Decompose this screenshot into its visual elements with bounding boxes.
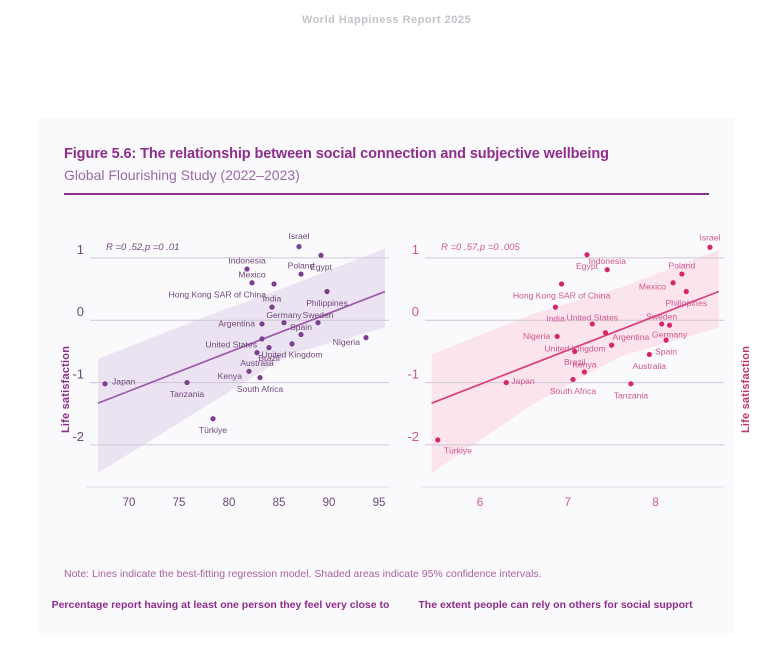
point-label: Argentina: [612, 332, 649, 342]
x-axis-caption-left: Percentage report having at least one pe…: [48, 598, 393, 613]
x-tick-label: 90: [323, 497, 336, 509]
correlation-annotation-1: R =0 .57,p =0 .005: [441, 242, 520, 253]
y-tick-label: 0: [77, 304, 84, 319]
point-label: Mexico: [238, 269, 265, 279]
point-label: Indonesia: [589, 256, 626, 266]
data-point: [670, 280, 675, 285]
data-point: [298, 332, 303, 337]
point-label: United States: [205, 339, 257, 349]
data-point: [281, 320, 286, 325]
y-tick-label: 1: [412, 242, 419, 257]
x-tick-label: 80: [223, 497, 236, 509]
point-label: India: [263, 294, 282, 304]
point-label: Nigeria: [523, 331, 550, 341]
data-point: [628, 381, 633, 386]
figure-title: Figure 5.6: The relationship between soc…: [64, 146, 704, 162]
data-point: [707, 245, 712, 250]
y-tick-label: -1: [407, 367, 419, 382]
point-label: Hong Kong SAR of China: [169, 290, 267, 300]
data-point: [435, 437, 440, 442]
point-label: Israel: [288, 231, 309, 241]
point-label: Australia: [240, 358, 274, 368]
data-point: [553, 305, 558, 310]
data-point: [269, 305, 274, 310]
point-label: Spain: [290, 322, 312, 332]
x-tick-label: 70: [123, 497, 136, 509]
point-label: Nigeria: [333, 337, 360, 347]
y-tick-label: -1: [72, 367, 84, 382]
x-tick-label: 6: [477, 497, 483, 509]
point-label: Sweden: [646, 311, 677, 321]
data-point: [315, 320, 320, 325]
point-label: Japan: [112, 376, 136, 386]
data-point: [298, 271, 303, 276]
scatter-plot-left: 10-1-2707580859095R =0 .52,p =0 .01Israe…: [48, 218, 393, 558]
data-point: [679, 271, 684, 276]
point-label: Sweden: [302, 310, 333, 320]
point-label: South Africa: [550, 386, 597, 396]
point-label: Türkiye: [199, 425, 227, 435]
data-point: [254, 350, 259, 355]
figure-note: Note: Lines indicate the best-fitting re…: [64, 568, 714, 580]
figure-card: Figure 5.6: The relationship between soc…: [38, 118, 735, 633]
data-point: [289, 341, 294, 346]
data-point: [667, 323, 672, 328]
point-label: Kenya: [218, 371, 243, 381]
point-label: Germany: [652, 330, 688, 340]
scatter-plot-right: 10-1-2678R =0 .57,p =0 .005IsraelEgyptIn…: [383, 218, 728, 558]
x-tick-label: 8: [652, 497, 658, 509]
data-point: [266, 345, 271, 350]
x-axis-caption-right: The extent people can rely on others for…: [383, 598, 728, 613]
data-point: [559, 281, 564, 286]
point-label: Tanzania: [614, 390, 649, 400]
point-label: Israel: [699, 233, 720, 243]
point-label: Hong Kong SAR of China: [513, 291, 611, 301]
chart-panel-left: Life satisfaction 10-1-2707580859095R =0…: [48, 218, 393, 558]
y-tick-label: -2: [407, 429, 419, 444]
data-point: [259, 336, 264, 341]
data-point: [249, 280, 254, 285]
y-axis-label-right: Life satisfaction: [740, 346, 752, 433]
data-point: [684, 289, 689, 294]
point-label: Poland: [668, 261, 695, 271]
data-point: [318, 253, 323, 258]
point-label: Mexico: [639, 281, 666, 291]
y-tick-label: 0: [412, 304, 419, 319]
point-label: India: [546, 314, 565, 324]
y-tick-label: 1: [77, 242, 84, 257]
x-tick-label: 75: [173, 497, 186, 509]
point-label: South Africa: [237, 384, 284, 394]
data-point: [659, 321, 664, 326]
data-point: [647, 352, 652, 357]
page-header: World Happiness Report 2025: [0, 14, 773, 26]
data-point: [246, 369, 251, 374]
point-label: Poland: [288, 261, 315, 271]
point-label: Philippines: [665, 298, 707, 308]
data-point: [184, 380, 189, 385]
data-point: [603, 330, 608, 335]
data-point: [609, 343, 614, 348]
data-point: [572, 349, 577, 354]
point-label: Kenya: [572, 359, 597, 369]
point-label: Philippines: [306, 298, 348, 308]
point-label: Australia: [633, 361, 667, 371]
data-point: [570, 377, 575, 382]
data-point: [663, 338, 668, 343]
data-point: [259, 321, 264, 326]
data-point: [271, 281, 276, 286]
data-point: [504, 380, 509, 385]
x-tick-label: 7: [565, 497, 571, 509]
data-point: [582, 369, 587, 374]
point-label: Indonesia: [228, 256, 265, 266]
data-point: [102, 381, 107, 386]
data-point: [210, 416, 215, 421]
point-label: Germany: [266, 310, 302, 320]
data-point: [363, 335, 368, 340]
data-point: [605, 267, 610, 272]
y-tick-label: -2: [72, 429, 84, 444]
point-label: Tanzania: [170, 389, 205, 399]
x-tick-label: 85: [273, 497, 286, 509]
data-point: [296, 244, 301, 249]
point-label: Japan: [511, 376, 535, 386]
point-label: United States: [567, 312, 619, 322]
point-label: Argentina: [218, 318, 255, 328]
data-point: [555, 334, 560, 339]
chart-panel-right: Life satisfaction 10-1-2678R =0 .57,p =0…: [383, 218, 728, 558]
figure-subtitle: Global Flourishing Study (2022–2023): [64, 167, 704, 183]
correlation-annotation-0: R =0 .52,p =0 .01: [106, 242, 179, 253]
point-label: Spain: [655, 347, 677, 357]
title-divider: [64, 193, 709, 195]
data-point: [257, 375, 262, 380]
data-point: [324, 289, 329, 294]
point-label: Türkiye: [444, 445, 472, 455]
